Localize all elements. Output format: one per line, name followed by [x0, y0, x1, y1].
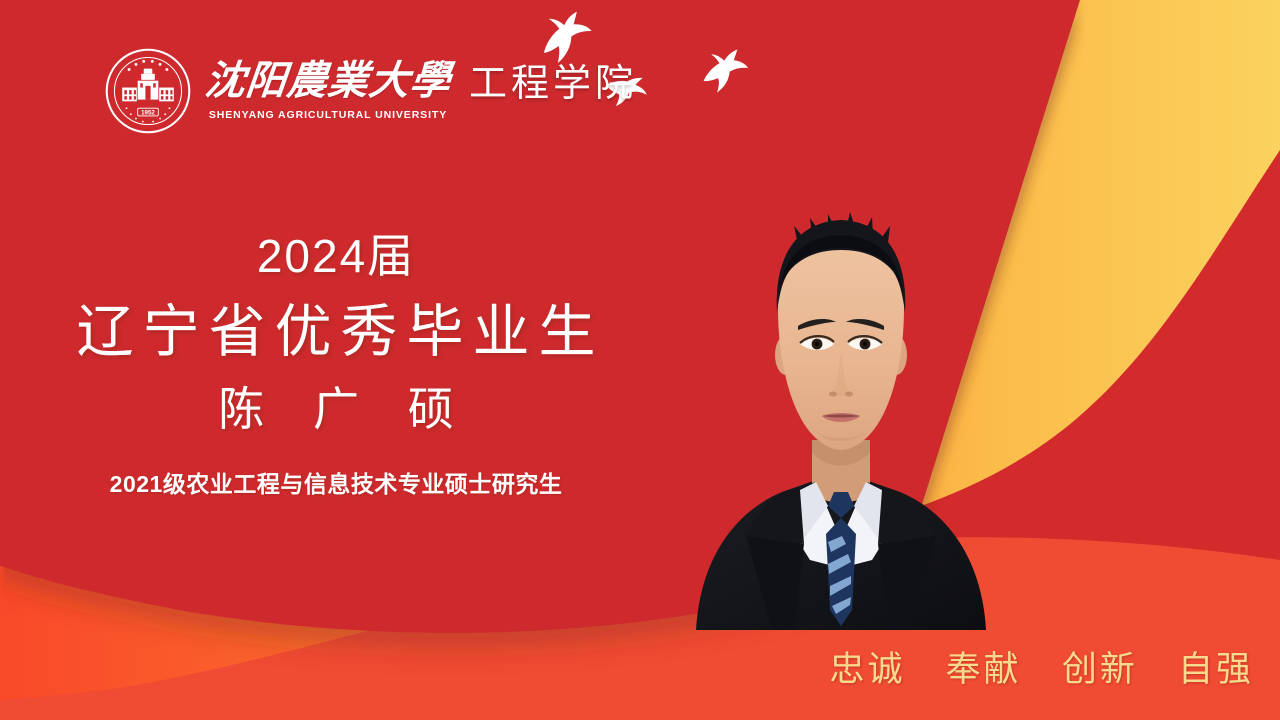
slogan-word-2: 奉献 — [946, 650, 1022, 690]
main-text-block: 2024届 辽宁省优秀毕业生 陈 广 硕 2021级农业工程与信息技术专业硕士研… — [0, 230, 672, 499]
student-name-line: 陈 广 硕 — [0, 382, 672, 437]
graduation-year-line: 2024届 — [0, 230, 672, 283]
university-name-block: 沈阳農業大學 SHENYANG AGRICULTURAL UNIVERSITY — [205, 61, 451, 121]
slogan-bar: 忠诚 奉献 创新 自强 — [830, 641, 1254, 692]
slogan-word-3: 创新 — [1062, 650, 1138, 690]
student-major-line: 2021级农业工程与信息技术专业硕士研究生 — [0, 471, 672, 499]
graduate-portrait — [676, 140, 1006, 630]
brand-lockup: 1952 沈阳農業大學 SHENYANG AGRICULTURAL UNIVER… — [105, 48, 637, 134]
university-crest-icon: 1952 — [105, 48, 191, 134]
poster-root: 1952 沈阳農業大學 SHENYANG AGRICULTURAL UNIVER… — [0, 0, 1280, 720]
university-name-cn: 沈阳農業大學 — [203, 61, 453, 101]
brand-text: 沈阳農業大學 SHENYANG AGRICULTURAL UNIVERSITY … — [205, 61, 637, 121]
college-name-cn: 工程学院 — [469, 65, 637, 103]
crest-year: 1952 — [141, 109, 155, 116]
slogan-word-1: 忠诚 — [830, 650, 906, 690]
slogan-word-4: 自强 — [1178, 650, 1254, 690]
honor-title-line: 辽宁省优秀毕业生 — [0, 297, 672, 368]
university-name-en: SHENYANG AGRICULTURAL UNIVERSITY — [209, 110, 447, 121]
